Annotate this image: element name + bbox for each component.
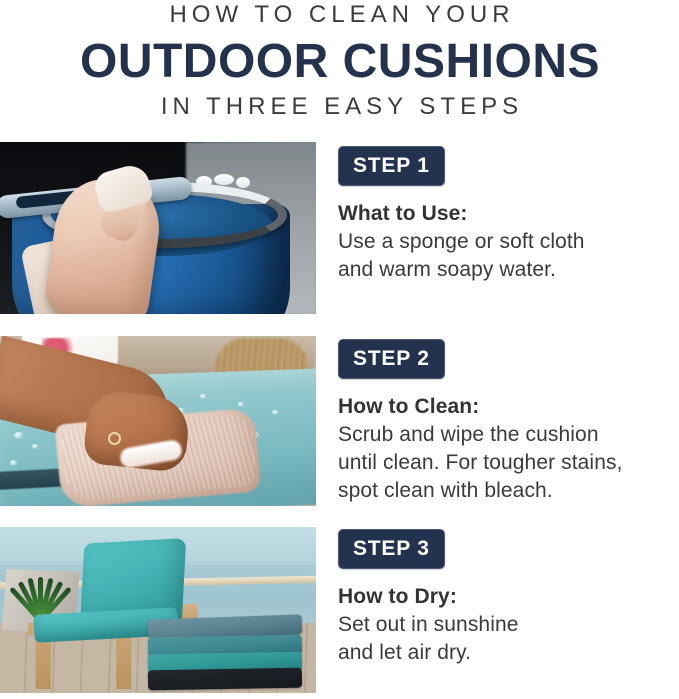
header-kicker: HOW TO CLEAN YOUR xyxy=(0,0,679,28)
water-drop-icon xyxy=(14,432,24,439)
stacked-cushions-icon xyxy=(148,617,308,689)
water-drop-icon xyxy=(200,394,207,399)
step-1-heading: What to Use: xyxy=(338,186,679,228)
step-2-badge: STEP 2 xyxy=(338,339,445,379)
step-row-3: STEP 3 How to Dry: Set out in sunshine a… xyxy=(0,527,679,693)
header-subkicker: IN THREE EASY STEPS xyxy=(0,90,679,120)
step-1-text: STEP 1 What to Use: Use a sponge or soft… xyxy=(338,142,679,284)
step-2-body: Scrub and wipe the cushion until clean. … xyxy=(338,421,679,505)
foam-bubble-icon xyxy=(214,174,234,185)
step-2-text: STEP 2 How to Clean: Scrub and wipe the … xyxy=(338,336,679,505)
page-title: OUTDOOR CUSHIONS xyxy=(0,28,679,90)
foam-bubble-icon xyxy=(236,177,250,188)
infographic-page: HOW TO CLEAN YOUR OUTDOOR CUSHIONS IN TH… xyxy=(0,0,679,699)
water-drop-icon xyxy=(10,460,18,466)
step-3-photo xyxy=(0,527,316,693)
water-drop-icon xyxy=(238,402,244,407)
step-2-heading: How to Clean: xyxy=(338,379,679,421)
step-3-heading: How to Dry: xyxy=(338,569,679,611)
step-row-2: STEP 2 How to Clean: Scrub and wipe the … xyxy=(0,336,679,506)
step-row-1: STEP 1 What to Use: Use a sponge or soft… xyxy=(0,142,679,314)
step-1-body: Use a sponge or soft cloth and warm soap… xyxy=(338,228,679,284)
foam-bubble-icon xyxy=(196,176,212,187)
water-drop-icon xyxy=(272,410,279,415)
stacked-cushion-item xyxy=(148,668,302,691)
step-3-badge: STEP 3 xyxy=(338,529,445,569)
step-2-photo xyxy=(0,336,316,506)
header: HOW TO CLEAN YOUR OUTDOOR CUSHIONS IN TH… xyxy=(0,0,679,120)
step-1-photo xyxy=(0,142,316,314)
step-3-body: Set out in sunshine and let air dry. xyxy=(338,611,679,667)
step-3-text: STEP 3 How to Dry: Set out in sunshine a… xyxy=(338,527,679,667)
step-1-badge: STEP 1 xyxy=(338,146,445,186)
water-drop-icon xyxy=(32,444,39,449)
